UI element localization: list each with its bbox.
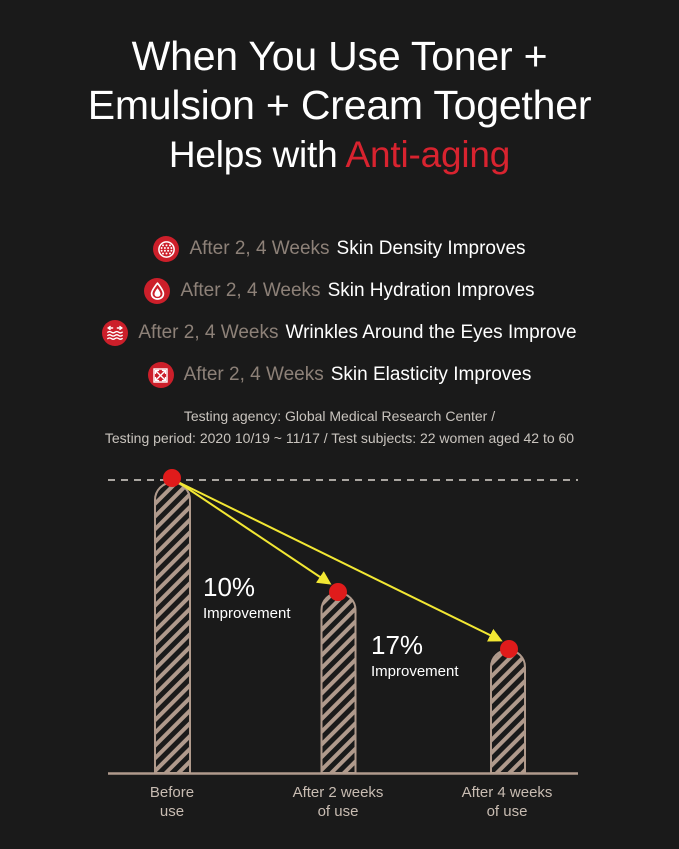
axis-label-line-2: of use — [427, 802, 587, 821]
benefit-text: Skin Hydration Improves — [328, 280, 535, 302]
value-dot-before — [163, 469, 181, 487]
annotation-percent-1: 10% — [203, 573, 255, 601]
annotation-label-2: Improvement — [371, 663, 459, 681]
benefit-prefix: After 2, 4 Weeks — [184, 364, 324, 386]
title-line-3-plain: Helps with — [169, 134, 346, 175]
annotation-label-1: Improvement — [203, 605, 291, 623]
value-dot-after-4-weeks — [500, 640, 518, 658]
study-footnote: Testing agency: Global Medical Research … — [0, 405, 679, 449]
benefit-prefix: After 2, 4 Weeks — [138, 322, 278, 344]
list-item: After 2, 4 Weeks Skin Hydration Improves — [0, 270, 679, 312]
benefit-text: Wrinkles Around the Eyes Improve — [285, 322, 576, 344]
bar-after-2-weeks — [322, 593, 356, 773]
footnote-line-1: Testing agency: Global Medical Research … — [0, 405, 679, 427]
benefit-text: Skin Elasticity Improves — [331, 364, 532, 386]
water-drop-icon — [144, 278, 170, 304]
axis-label-after-2-weeks: After 2 weeks of use — [258, 783, 418, 821]
chart-svg — [0, 465, 679, 795]
axis-label-before-use: Before use — [92, 783, 252, 821]
skin-elasticity-icon — [148, 362, 174, 388]
list-item: After 2, 4 Weeks Skin Density Improves — [0, 228, 679, 270]
page-title: When You Use Toner + Emulsion + Cream To… — [0, 32, 679, 180]
benefit-prefix: After 2, 4 Weeks — [189, 238, 329, 260]
title-line-1: When You Use Toner + — [0, 32, 679, 81]
wrinkle-waves-icon — [102, 320, 128, 346]
annotation-percent-2: 17% — [371, 631, 423, 659]
improvement-bar-chart: 10% Improvement 17% Improvement Before u… — [0, 465, 679, 849]
value-dot-after-2-weeks — [329, 583, 347, 601]
list-item: After 2, 4 Weeks Wrinkles Around the Eye… — [0, 312, 679, 354]
axis-label-line-2: use — [92, 802, 252, 821]
axis-label-line-1: Before — [92, 783, 252, 802]
skin-density-icon — [153, 236, 179, 262]
improvement-arrow-1 — [178, 482, 329, 583]
axis-label-line-1: After 4 weeks — [427, 783, 587, 802]
footnote-line-2: Testing period: 2020 10/19 ~ 11/17 / Tes… — [0, 427, 679, 449]
benefit-prefix: After 2, 4 Weeks — [180, 280, 320, 302]
benefit-list: After 2, 4 Weeks Skin Density Improves A… — [0, 228, 679, 396]
title-accent-anti-aging: Anti-aging — [346, 134, 511, 175]
bar-after-4-weeks — [491, 650, 525, 773]
title-line-3: Helps with Anti-aging — [0, 130, 679, 180]
title-line-2: Emulsion + Cream Together — [0, 81, 679, 130]
list-item: After 2, 4 Weeks Skin Elasticity Improve… — [0, 354, 679, 396]
bar-before-use — [155, 483, 190, 774]
infographic-page: When You Use Toner + Emulsion + Cream To… — [0, 0, 679, 849]
axis-label-after-4-weeks: After 4 weeks of use — [427, 783, 587, 821]
axis-label-line-1: After 2 weeks — [258, 783, 418, 802]
benefit-text: Skin Density Improves — [337, 238, 526, 260]
axis-label-line-2: of use — [258, 802, 418, 821]
